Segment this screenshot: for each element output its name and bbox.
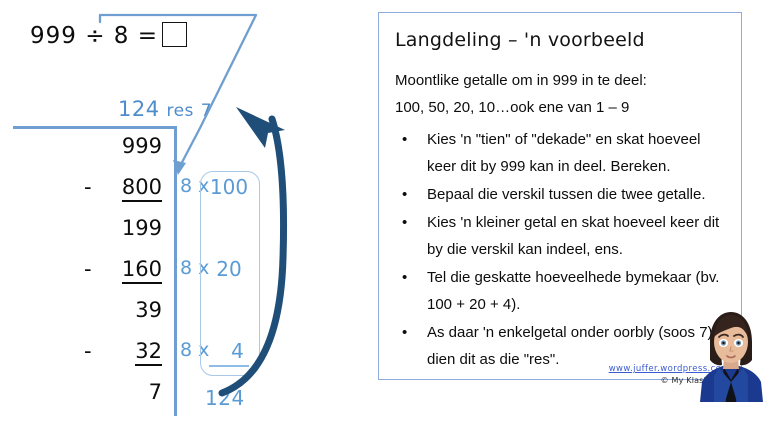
row-value: 7 [149,380,162,404]
bullet-text: Tel die geskatte hoeveelhede bymekaar (b… [427,269,719,313]
instruction-bullet-list: • Kies 'n "tien" of "dekade" en skat hoe… [393,126,727,373]
bullet-text: As daar 'n enkelgetal onder oorbly (soos… [427,324,717,368]
bullet-icon: • [402,264,407,291]
equation-text: 999 ÷ 8 = [30,23,158,49]
division-row: 199 [82,216,168,257]
list-item: • Tel die geskatte hoeveelhede bymekaar … [393,264,727,318]
minus-sign: - [84,257,92,281]
multiplier-row [180,134,214,175]
remainder-value: 7 [201,101,212,121]
minus-sign: - [84,339,92,363]
list-item: • Bepaal die verskil tussen die twee get… [393,181,727,208]
bullet-icon: • [402,319,407,346]
long-division-vertical-line [174,126,177,416]
row-value: 32 [135,339,162,366]
row-value: 199 [122,216,162,240]
bullet-text: Bepaal die verskil tussen die twee getal… [427,186,706,203]
partial-quotient: 100 [200,175,258,257]
bullet-text: Kies 'n "tien" of "dekade" en skat hoeve… [427,131,701,175]
remainder-label: res [166,101,193,121]
partial-quotient: 4 [209,339,249,367]
partial-quotients-total: 124 [205,386,245,410]
division-row: - 160 [82,257,168,298]
division-row: 7 [82,380,168,421]
partial-quotient: 20 [200,257,258,339]
row-value: 999 [122,134,162,158]
division-number-column: 999 - 800 199 - 160 39 - 32 7 [82,134,168,421]
quotient-line: 124 res 7 [118,97,212,121]
instructions-textbox: Langdeling – 'n voorbeeld Moontlike geta… [378,12,742,380]
quotient-value: 124 [118,97,160,121]
intro-line-2: 100, 50, 20, 10…ook ene van 1 – 9 [395,94,727,121]
row-value: 800 [122,175,162,202]
avatar [692,306,770,402]
division-row: - 32 [82,339,168,380]
textbox-title: Langdeling – 'n voorbeeld [395,29,727,51]
division-equation: 999 ÷ 8 = [30,22,187,49]
division-row: 999 [82,134,168,175]
intro-line-1: Moontlike getalle om in 999 in te deel: [395,67,727,94]
long-division-top-line [13,126,176,129]
slide-canvas: 999 ÷ 8 = 124 res 7 999 - 800 199 - 160 … [0,0,775,429]
row-value: 160 [122,257,162,284]
row-value: 39 [135,298,162,322]
partial-quotients-column: 100 20 4 [200,175,258,367]
bullet-icon: • [402,126,407,153]
answer-box[interactable] [162,22,187,47]
bullet-text: Kies 'n kleiner getal en skat hoeveel ke… [427,214,719,258]
list-item: • Kies 'n "tien" of "dekade" en skat hoe… [393,126,727,180]
bullet-icon: • [402,181,407,208]
minus-sign: - [84,175,92,199]
list-item: • Kies 'n kleiner getal en skat hoeveel … [393,209,727,263]
partial-quotient-wrap: 4 [200,339,258,367]
division-row: 39 [82,298,168,339]
division-row: - 800 [82,175,168,216]
bullet-icon: • [402,209,407,236]
